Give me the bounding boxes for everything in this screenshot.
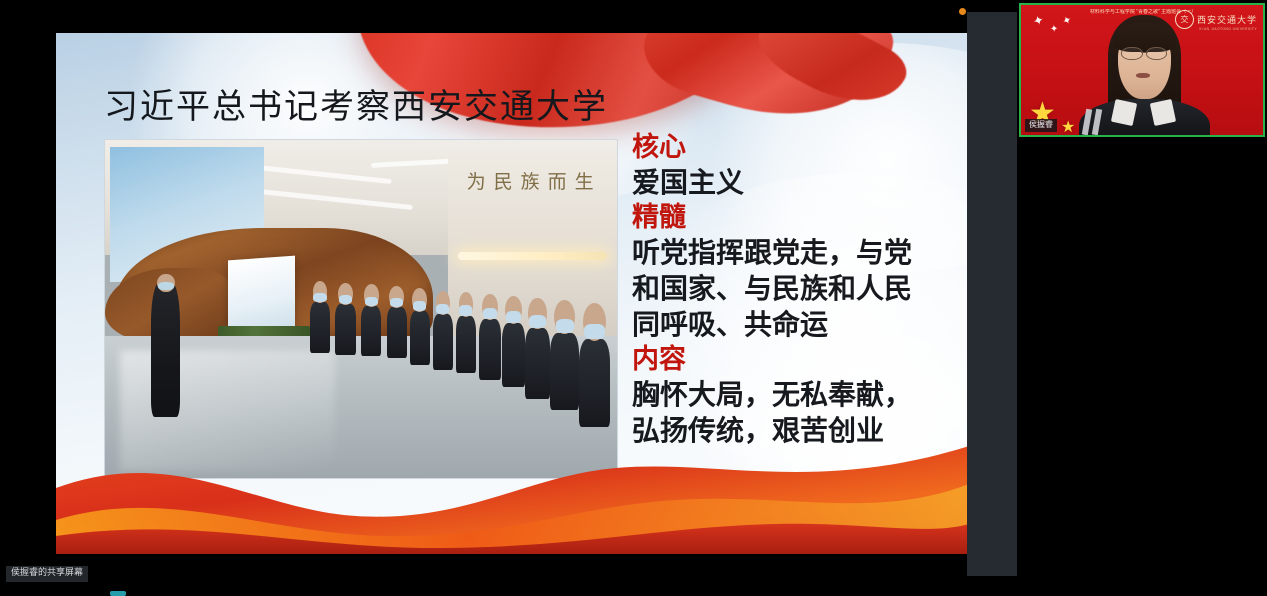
screen-share-banner: 侯握睿的共享屏幕 bbox=[6, 566, 88, 582]
photo-seated-person bbox=[479, 319, 502, 380]
recording-status-dot[interactable] bbox=[959, 8, 966, 15]
slide-body-line: 爱国主义 bbox=[632, 165, 952, 201]
photo-standing-figure bbox=[151, 282, 180, 417]
shared-screen-stage[interactable]: 习近平总书记考察西安交通大学 为民族而生 bbox=[0, 0, 967, 596]
photo-wall-calligraphy: 为民族而生 bbox=[448, 167, 602, 241]
photo-seated-person bbox=[550, 333, 579, 411]
photo-seated-person bbox=[410, 311, 430, 365]
red-wave-decoration bbox=[56, 424, 969, 554]
photo-seated-person bbox=[579, 339, 611, 427]
mouth bbox=[1136, 73, 1151, 78]
photo-seated-person bbox=[387, 307, 407, 358]
slide-title: 习近平总书记考察西安交通大学 bbox=[104, 79, 608, 128]
red-wave-svg bbox=[56, 424, 969, 554]
slide-heading-content: 内容 bbox=[632, 343, 952, 377]
presentation-slide[interactable]: 习近平总书记考察西安交通大学 为民族而生 bbox=[56, 33, 969, 554]
slide-body-line: 和国家、与民族和人民 bbox=[632, 271, 952, 307]
photo-seated-person bbox=[433, 314, 453, 370]
photo-seated-person bbox=[335, 304, 355, 355]
slide-body-line: 胸怀大局，无私奉献， bbox=[632, 377, 952, 413]
bottom-toolbar-indicator[interactable] bbox=[110, 591, 126, 596]
participant-figure bbox=[1021, 5, 1263, 135]
photo-seated-person bbox=[310, 302, 330, 353]
star-icon: ★ bbox=[1061, 115, 1075, 137]
participant-name-label: 侯握睿 bbox=[1025, 119, 1057, 132]
participant-video-tile[interactable]: ✦ ✦ ✦ 材料科学与工程学院 "青春之歌" 主题班会（一） 交 西安交通大学 … bbox=[1019, 3, 1265, 137]
photo-wall-lightbar bbox=[458, 252, 606, 260]
slide-text-column: 核心 爱国主义 精髓 听党指挥跟党走，与党 和国家、与民族和人民 同呼吸、共命运… bbox=[632, 131, 952, 449]
slide-heading-essence: 精髓 bbox=[632, 201, 952, 235]
photo-seated-person bbox=[456, 316, 476, 373]
meeting-screen-share-window: 习近平总书记考察西安交通大学 为民族而生 bbox=[0, 0, 1267, 596]
photo-seated-person bbox=[361, 306, 381, 357]
photo-display-panel bbox=[228, 256, 295, 332]
meeting-side-panel[interactable] bbox=[967, 12, 1017, 576]
photo-standing-figure-mask bbox=[158, 282, 173, 290]
slide-body-line: 同呼吸、共命运 bbox=[632, 307, 952, 343]
photo-seated-person bbox=[525, 328, 551, 399]
slide-body-line: 听党指挥跟党走，与党 bbox=[632, 235, 952, 271]
glasses-icon bbox=[1121, 47, 1167, 59]
slide-heading-core: 核心 bbox=[632, 131, 952, 165]
photo-seated-person bbox=[502, 323, 526, 387]
